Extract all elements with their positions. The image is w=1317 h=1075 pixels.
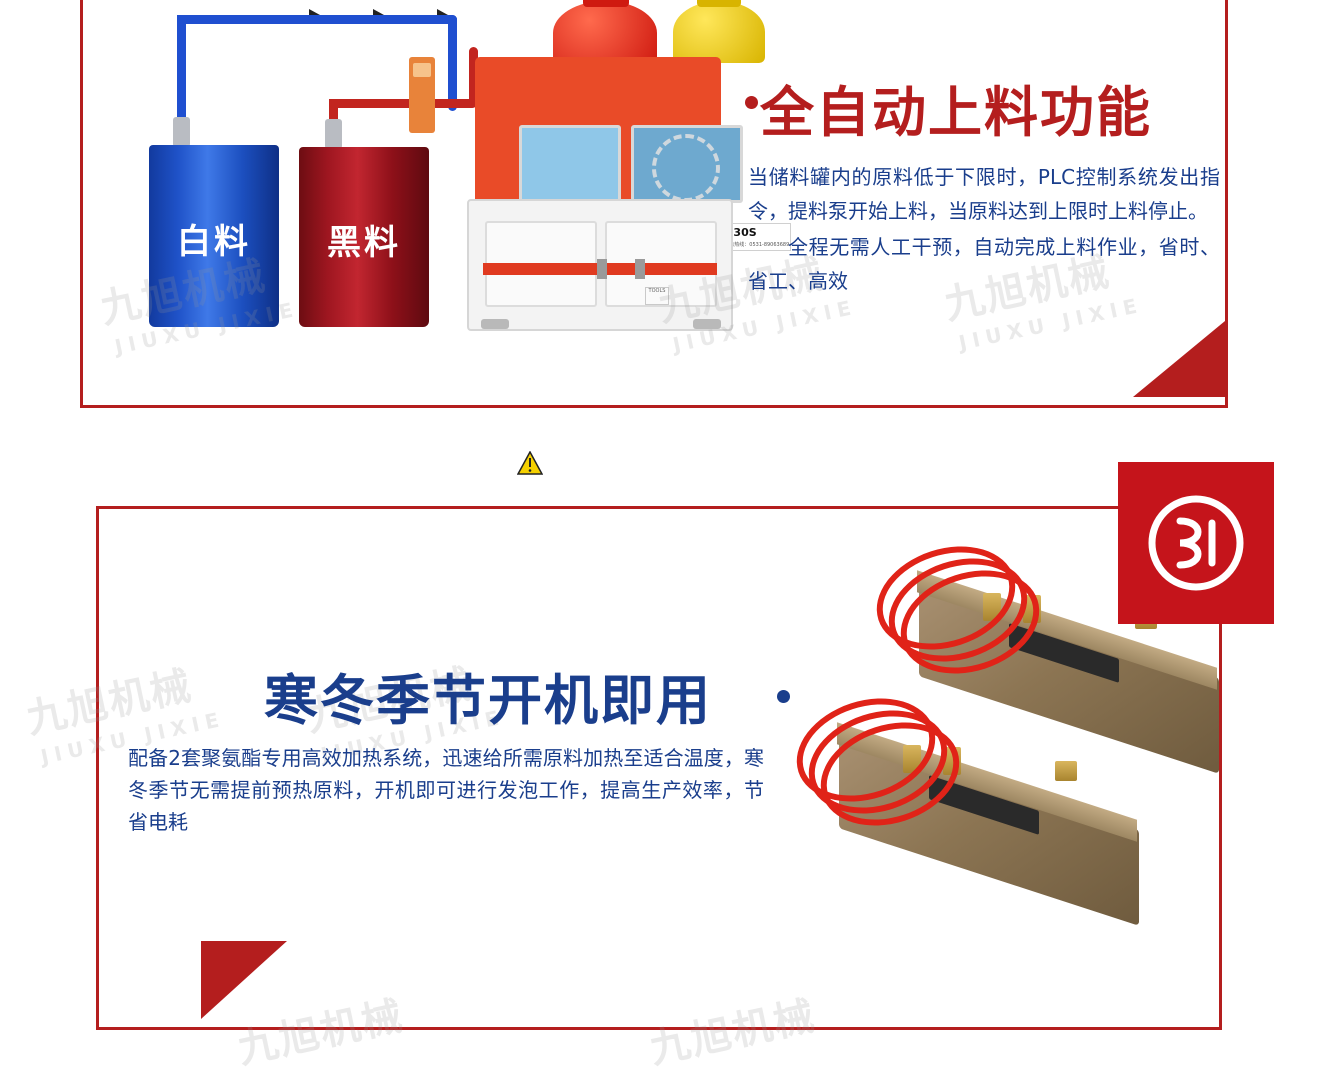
tank-yellow-cap <box>697 0 741 7</box>
tank-red-cap <box>583 0 629 7</box>
watermark-cn: 九旭机械 <box>20 648 221 745</box>
machine-lower-body: TOOLS <box>467 199 733 331</box>
tank-red <box>553 1 657 65</box>
barrel-black-label: 黑料 <box>299 215 429 264</box>
tank-yellow <box>673 1 765 63</box>
section1-title: 全自动上料功能 <box>760 68 1152 147</box>
mixer-disc <box>652 134 720 202</box>
pipe-connector-white <box>173 117 190 147</box>
blue-pipe-vertical <box>177 29 186 119</box>
barrel-white-material: 白料 <box>149 145 279 327</box>
watermark-en: JIUXU JIXIE <box>957 293 1145 355</box>
warning-icon <box>517 451 543 475</box>
tools-badge: TOOLS <box>645 287 669 305</box>
foaming-machine-illustration: JX-H-P30S 九旭机械（上海）有限公司 服务热线：0531-8906368… <box>447 0 753 349</box>
brand-logo-icon <box>1142 489 1250 597</box>
section1-body: 当储料罐内的原料低于下限时，PLC控制系统发出指令，提料泵开始上料，当原料达到上… <box>748 160 1220 300</box>
pump-indicator <box>413 63 431 77</box>
barrel-white-label: 白料 <box>149 214 279 263</box>
blue-pipe-horizontal <box>177 15 457 24</box>
barrel-black-material: 黑料 <box>299 147 429 327</box>
section2-paragraph-1: 配备2套聚氨酯专用高效加热系统，迅速给所需原料加热至适合温度，寒冬季节无需提前预… <box>128 742 764 838</box>
corner-triangle-red <box>1133 321 1225 397</box>
section1-bullet <box>745 96 758 109</box>
pipe-connector-black <box>325 119 342 149</box>
machine-window-left <box>519 125 621 203</box>
section2-bullet <box>777 690 790 703</box>
corner-triangle-red <box>201 941 287 1019</box>
brand-logo-badge <box>1118 462 1274 624</box>
section1-paragraph-1: 当储料罐内的原料低于下限时，PLC控制系统发出指令，提料泵开始上料，当原料达到上… <box>748 160 1220 228</box>
fitting-brass-lower-3 <box>1055 761 1077 781</box>
section1-paragraph-2: 全程无需人工干预，自动完成上料作业，省时、省工、高效 <box>748 230 1220 298</box>
door-handle-right[interactable] <box>635 259 645 279</box>
machine-foot-right <box>693 319 721 329</box>
section2-title: 寒冬季节开机即用 <box>264 656 712 735</box>
machine-window-right <box>631 125 743 203</box>
section2-body: 配备2套聚氨酯专用高效加热系统，迅速给所需原料加热至适合温度，寒冬季节无需提前预… <box>128 742 764 838</box>
machine-foot-left <box>481 319 509 329</box>
door-handle-left[interactable] <box>597 259 607 279</box>
